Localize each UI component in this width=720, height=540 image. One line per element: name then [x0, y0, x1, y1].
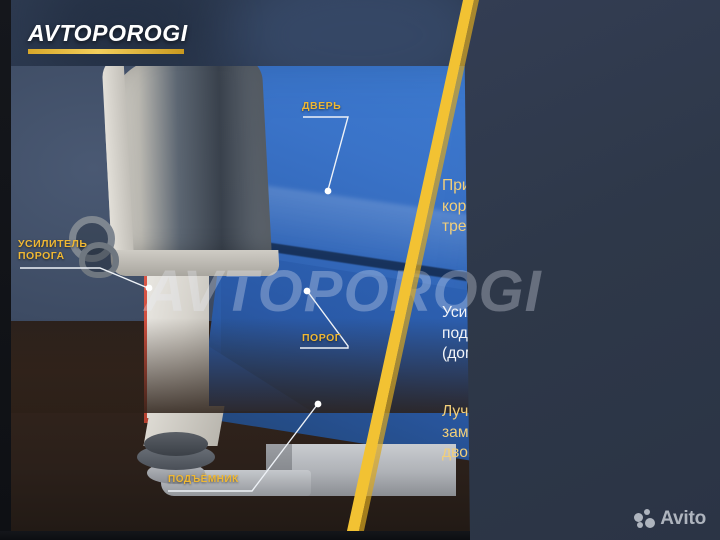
avito-wordmark: Avito	[660, 508, 706, 530]
callout-lift: ПОДЪЁМНИК	[168, 474, 239, 486]
callout-reinforcer-label-line2: ПОРОГА	[18, 250, 87, 262]
illustration-panel	[11, 66, 470, 531]
callout-sill-label: ПОРОГ	[302, 332, 341, 344]
bottom-border-edge	[0, 531, 470, 540]
callout-sill: ПОРОГ	[302, 332, 341, 344]
door-skin-bottom-fold	[110, 250, 279, 276]
brand-logo-underline	[28, 49, 184, 54]
callout-reinforcer: УСИЛИТЕЛЬ ПОРОГА	[18, 238, 87, 263]
poster-canvas: AVTOPOROGI ДВЕРЬ УСИЛИТЕЛЬ ПОРОГА ПОРОГ …	[0, 0, 720, 540]
callout-door: ДВЕРЬ	[302, 100, 341, 112]
ground-shadow	[11, 318, 470, 413]
callout-reinforcer-label-line1: УСИЛИТЕЛЬ	[18, 238, 87, 250]
avito-dots-icon	[634, 509, 655, 530]
avito-watermark: Avito	[634, 508, 706, 530]
callout-door-label: ДВЕРЬ	[302, 100, 341, 112]
callout-lift-label: ПОДЪЁМНИК	[168, 474, 239, 486]
left-border-edge	[0, 0, 11, 540]
brand-logo-text: AVTOPOROGI	[28, 20, 188, 47]
brand-logo: AVTOPOROGI	[28, 20, 188, 54]
lift-pad-top	[144, 432, 208, 456]
